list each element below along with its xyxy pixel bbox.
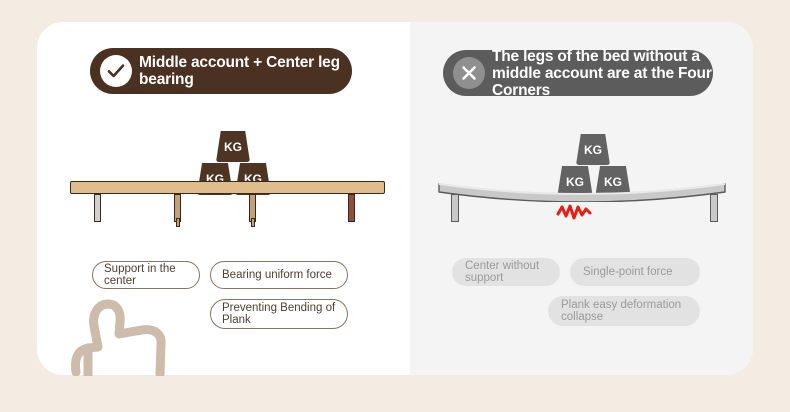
bad-label-text: Plank easy deformation collapse: [561, 299, 687, 324]
comparison-diagram: Middle account + Center leg bearing KG K…: [0, 0, 790, 412]
good-plank: [70, 181, 385, 194]
good-leg: [348, 194, 355, 222]
good-label-pill: Support in the center: [92, 261, 200, 289]
bad-label-pill: Plank easy deformation collapse: [548, 296, 700, 326]
bad-leg: [710, 194, 718, 222]
good-header-text: Middle account + Center leg bearing: [139, 54, 352, 88]
bad-leg: [451, 194, 459, 222]
bad-header-badge: The legs of the bed without a middle acc…: [443, 50, 713, 96]
good-leg: [94, 194, 101, 222]
bad-label-pill: Single-point force: [570, 258, 700, 286]
good-label-text: Bearing uniform force: [222, 269, 332, 282]
good-label-text: Support in the center: [104, 263, 188, 288]
bad-label-text: Single-point force: [583, 266, 673, 279]
weight-block: KG: [576, 134, 610, 165]
good-label-text: Preventing Bending of Plank: [222, 302, 336, 327]
bad-label-text: Center without support: [465, 260, 547, 285]
good-label-pill: Preventing Bending of Plank: [210, 299, 348, 329]
check-circle-icon: [100, 55, 132, 87]
good-header-badge: Middle account + Center leg bearing: [90, 48, 352, 94]
thumbs-up-icon: [68, 296, 186, 376]
good-leg-foot: [176, 218, 180, 227]
weight-block: KG: [216, 131, 250, 162]
good-label-pill: Bearing uniform force: [210, 261, 348, 289]
bad-header-text: The legs of the bed without a middle acc…: [492, 48, 713, 99]
crack-zigzag-icon: [556, 203, 592, 221]
good-leg-foot: [251, 218, 255, 227]
x-circle-icon: [453, 57, 485, 89]
bad-label-pill: Center without support: [452, 258, 560, 286]
bad-plank-bent: [437, 178, 727, 202]
